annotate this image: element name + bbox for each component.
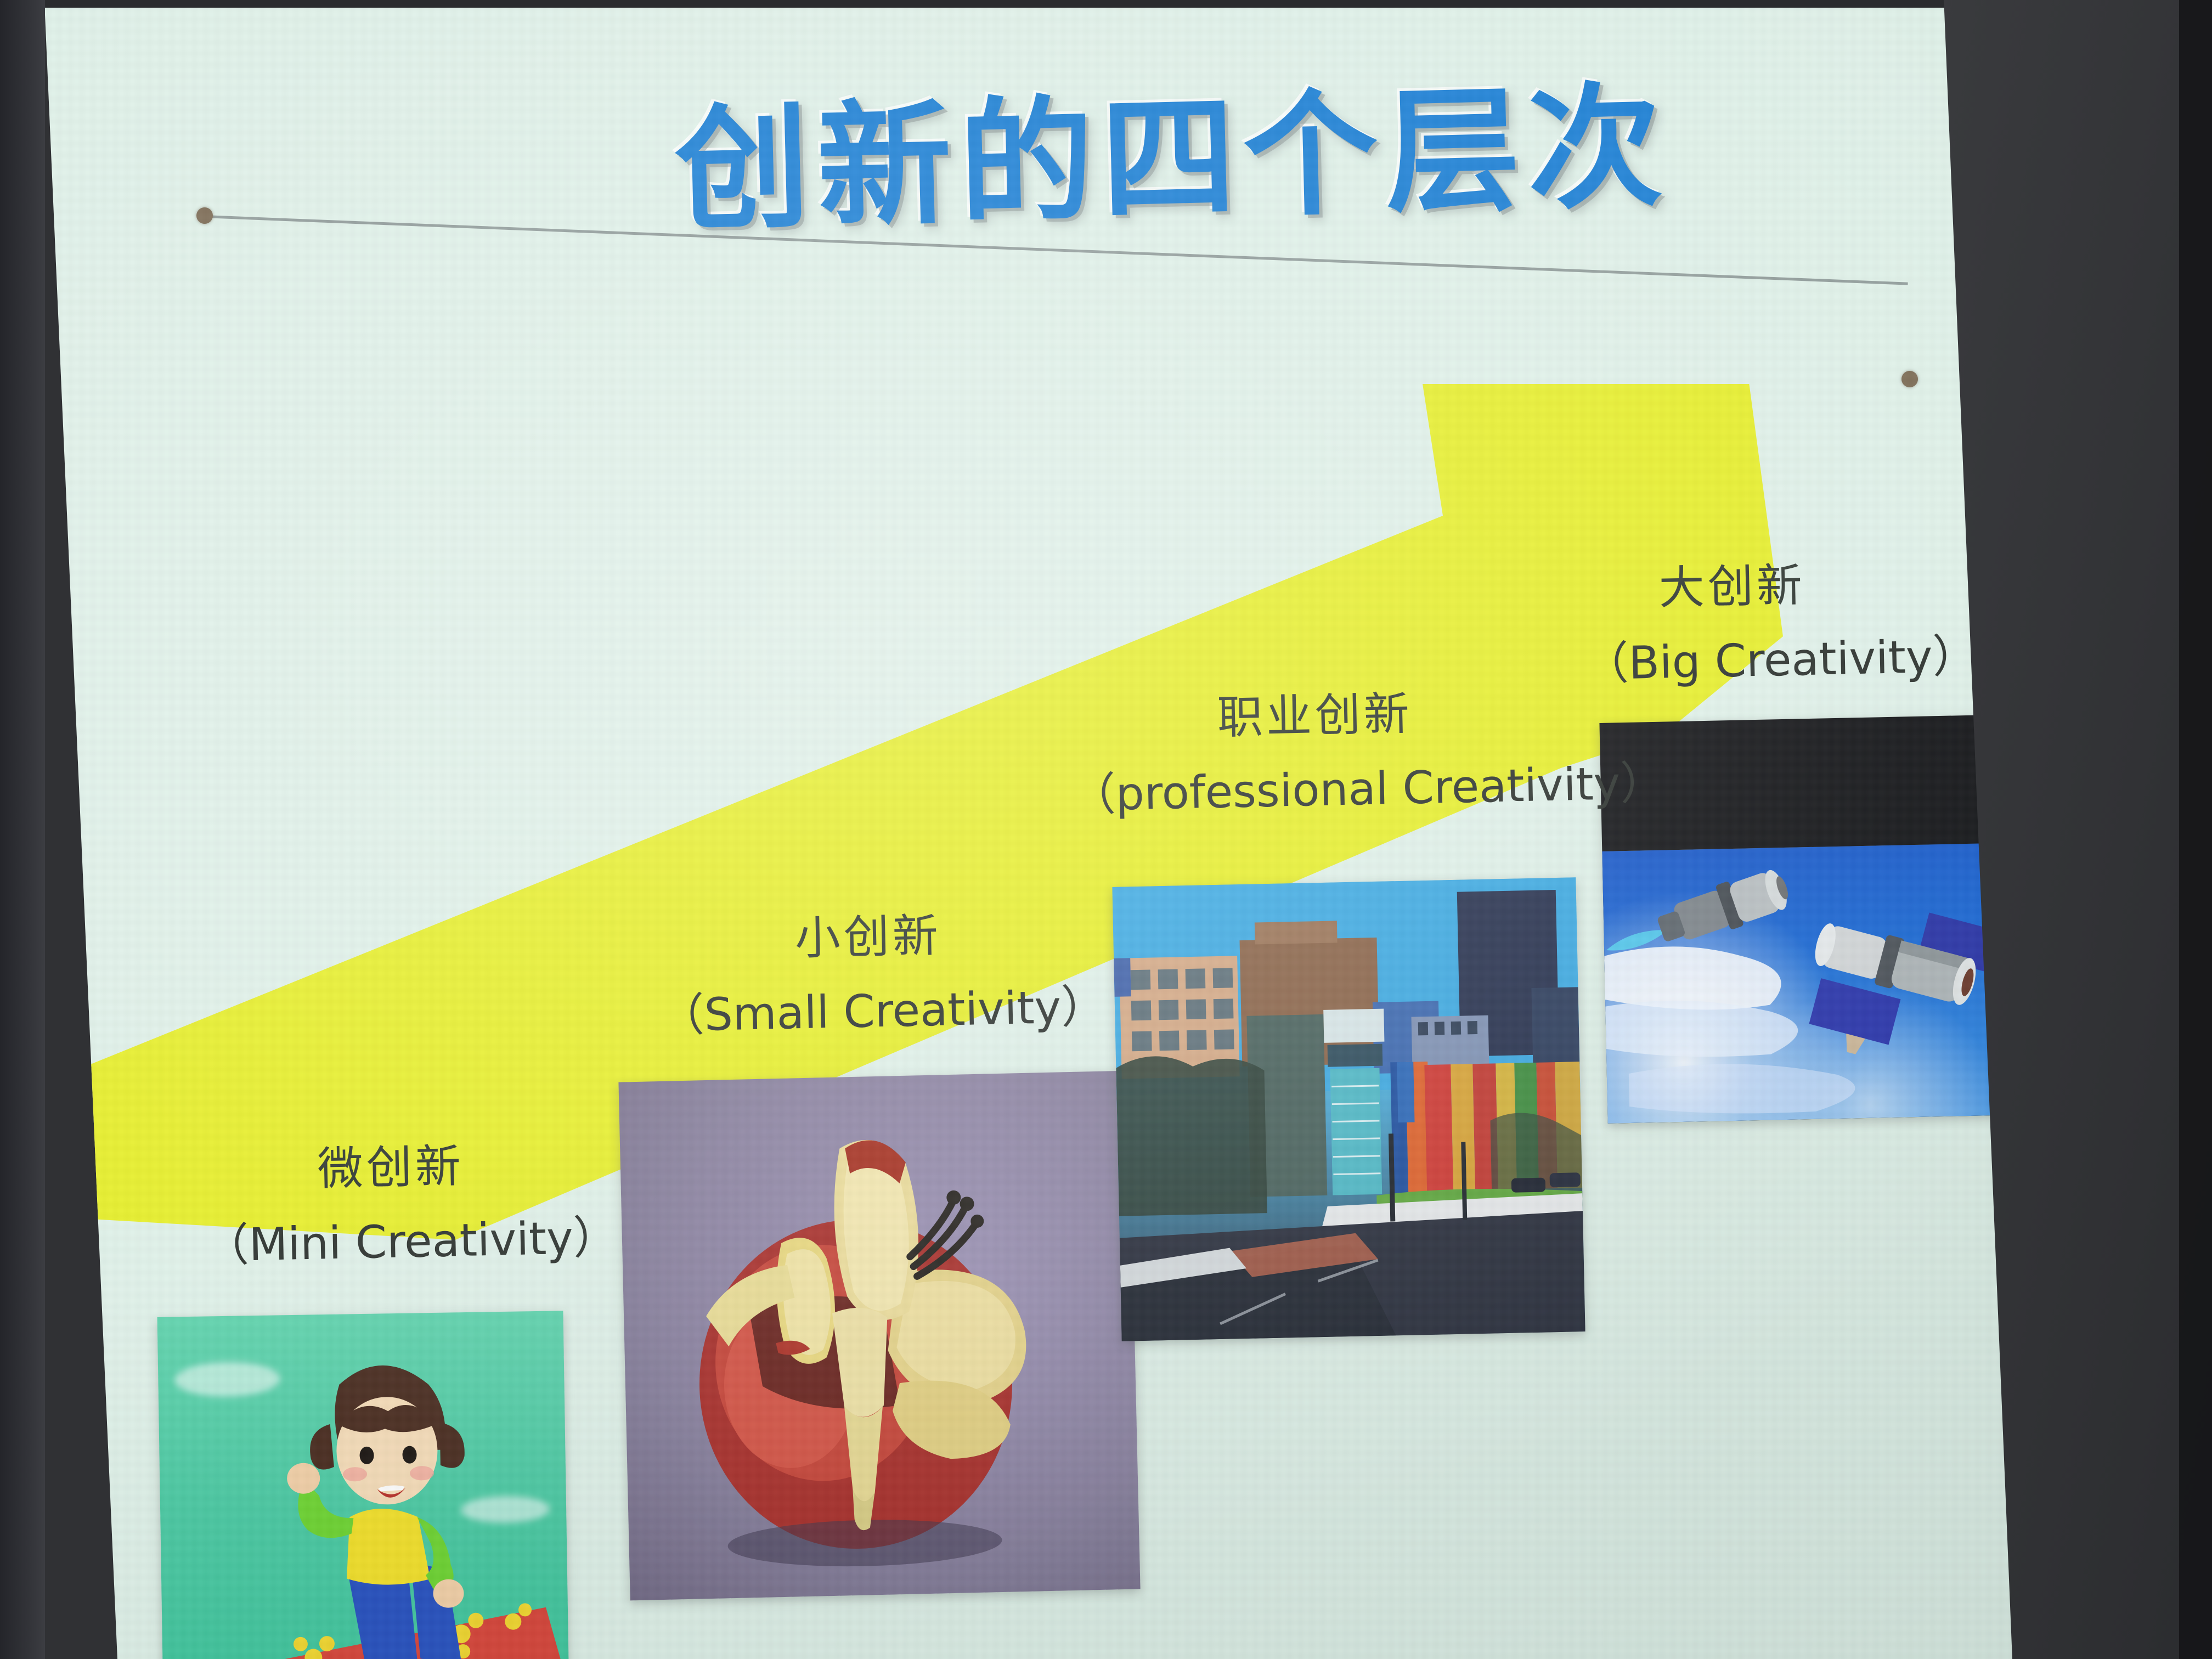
top-wall-strip: [38, 0, 2013, 8]
level-label-big-en: （Big Creativity）: [1583, 619, 1978, 692]
left-wall: [0, 0, 45, 1659]
level-label-mini-en: （Mini Creativity）: [203, 1200, 618, 1274]
projection-room: 创新的四个层次 微创新 （Mini Creativity） 小创新 （Small…: [0, 0, 2212, 1659]
image-mini-creativity-girl-on-pencil: [157, 1311, 569, 1659]
level-label-mini: 微创新 （Mini Creativity）: [201, 1126, 618, 1274]
level-label-big: 大创新 （Big Creativity）: [1581, 545, 1978, 693]
level-label-mini-cn: 微创新: [317, 1126, 617, 1198]
level-label-small-cn: 小创新: [794, 895, 1105, 967]
page-title: 创新的四个层次: [673, 37, 1672, 256]
image-professional-creativity-urban-street: [1112, 877, 1585, 1341]
level-label-small: 小创新 （Small Creativity）: [657, 895, 1107, 1044]
divider-dot-left: [196, 207, 213, 224]
image-small-creativity-apple-butterfly: [618, 1071, 1140, 1601]
level-label-small-en: （Small Creativity）: [658, 969, 1107, 1044]
level-label-big-cn: 大创新: [1658, 545, 1976, 617]
projected-slide: 创新的四个层次 微创新 （Mini Creativity） 小创新 （Small…: [38, 0, 2013, 1659]
divider-dot-right: [1901, 371, 1918, 387]
level-label-professional: 职业创新 （professional Creativity）: [1068, 672, 1666, 824]
level-label-professional-en: （professional Creativity）: [1070, 746, 1666, 824]
right-wall-shadow: [2179, 0, 2212, 1659]
